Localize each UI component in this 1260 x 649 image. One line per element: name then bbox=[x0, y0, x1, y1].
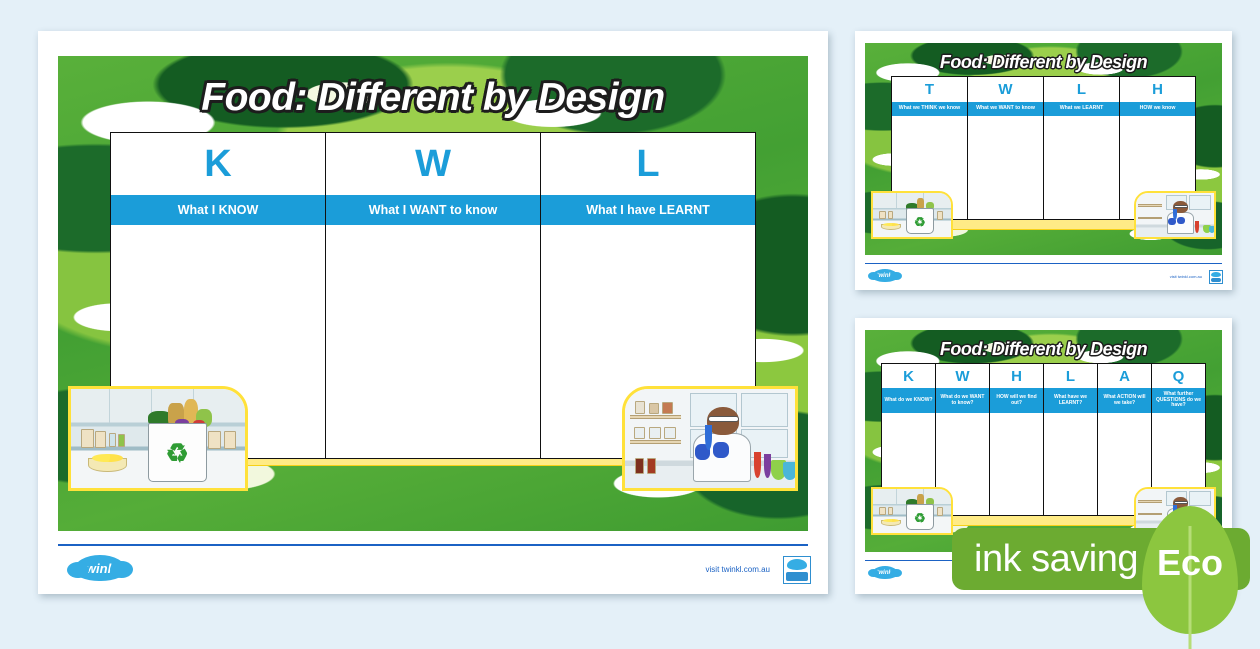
column-writing-area[interactable] bbox=[326, 225, 540, 458]
page-title: Food: Different by Design bbox=[865, 339, 1222, 360]
grocery-bag-recycling-photo: ♻ bbox=[871, 487, 953, 535]
column-subtitle: What do we WANT to know? bbox=[936, 388, 989, 413]
twinkl-logo[interactable]: twinkl bbox=[872, 566, 898, 579]
twinkl-quality-badge-icon bbox=[1209, 270, 1223, 284]
main-poster-card[interactable]: Food: Different by Design K What I KNOW … bbox=[38, 31, 828, 594]
column-letter: W bbox=[968, 77, 1043, 102]
column-subtitle: What I KNOW bbox=[111, 195, 325, 225]
column-writing-area[interactable] bbox=[990, 413, 1043, 515]
kwhlaq-column-h[interactable]: H HOW will we find out? bbox=[990, 364, 1044, 515]
column-subtitle: What we THINK we know bbox=[892, 102, 967, 116]
footer-divider bbox=[865, 263, 1222, 264]
column-letter: K bbox=[882, 364, 935, 388]
column-letter: L bbox=[541, 133, 755, 195]
column-subtitle: What have we LEARNT? bbox=[1044, 388, 1097, 413]
column-subtitle: What I have LEARNT bbox=[541, 195, 755, 225]
twlh-poster-frame: Food: Different by Design T What we THIN… bbox=[865, 43, 1222, 255]
eco-label: Eco bbox=[1157, 542, 1223, 584]
visit-website-text[interactable]: visit twinkl.com.au bbox=[706, 565, 770, 574]
grocery-bag-recycling-photo: ♻ bbox=[871, 191, 953, 239]
column-letter: W bbox=[326, 133, 540, 195]
recycling-symbol-icon: ♻ bbox=[165, 440, 188, 466]
test-tube-icon bbox=[705, 425, 712, 451]
twinkl-quality-badge-icon bbox=[783, 556, 811, 584]
column-letter: A bbox=[1098, 364, 1151, 388]
column-subtitle: What we LEARNT bbox=[1044, 102, 1119, 116]
recycling-symbol-icon: ♻ bbox=[914, 215, 926, 228]
grocery-bag-recycling-photo: ♻ bbox=[68, 386, 248, 491]
safety-goggles-icon bbox=[708, 416, 739, 422]
scientist-laboratory-photo bbox=[1134, 191, 1216, 239]
column-subtitle: What I WANT to know bbox=[326, 195, 540, 225]
column-letter: Q bbox=[1152, 364, 1205, 388]
column-letter: H bbox=[990, 364, 1043, 388]
twlh-column-l[interactable]: L What we LEARNT bbox=[1044, 77, 1120, 219]
column-letter: H bbox=[1120, 77, 1195, 102]
page-title: Food: Different by Design bbox=[58, 76, 808, 120]
twinkl-logo[interactable]: twinkl bbox=[872, 269, 898, 282]
column-letter: L bbox=[1044, 364, 1097, 388]
page-title: Food: Different by Design bbox=[865, 52, 1222, 73]
ink-saving-label: ink saving bbox=[974, 538, 1138, 581]
column-writing-area[interactable] bbox=[1044, 413, 1097, 515]
kwl-column-w[interactable]: W What I WANT to know bbox=[326, 133, 541, 458]
recycling-symbol-icon: ♻ bbox=[914, 511, 926, 524]
column-letter: L bbox=[1044, 77, 1119, 102]
visit-website-text[interactable]: visit twinkl.com.au bbox=[1170, 274, 1202, 279]
footer-divider bbox=[58, 544, 808, 546]
column-letter: T bbox=[892, 77, 967, 102]
column-subtitle: HOW we know bbox=[1120, 102, 1195, 116]
column-subtitle: What we WANT to know bbox=[968, 102, 1043, 116]
ink-saving-eco-badge: ink saving Eco bbox=[952, 528, 1250, 590]
column-writing-area[interactable] bbox=[968, 116, 1043, 219]
column-letter: K bbox=[111, 133, 325, 195]
main-poster-frame: Food: Different by Design K What I KNOW … bbox=[58, 56, 808, 531]
column-subtitle: What further QUESTIONS do we have? bbox=[1152, 388, 1205, 413]
column-writing-area[interactable] bbox=[1044, 116, 1119, 219]
column-subtitle: What do we KNOW? bbox=[882, 388, 935, 413]
column-letter: W bbox=[936, 364, 989, 388]
kwhlaq-column-l[interactable]: L What have we LEARNT? bbox=[1044, 364, 1098, 515]
thumbnail-twlh-card[interactable]: Food: Different by Design T What we THIN… bbox=[855, 31, 1232, 290]
twlh-column-w[interactable]: W What we WANT to know bbox=[968, 77, 1044, 219]
scientist-laboratory-photo bbox=[622, 386, 798, 491]
twinkl-logo[interactable]: twinkl bbox=[74, 555, 126, 581]
column-subtitle: HOW will we find out? bbox=[990, 388, 1043, 413]
column-subtitle: What ACTION will we take? bbox=[1098, 388, 1151, 413]
